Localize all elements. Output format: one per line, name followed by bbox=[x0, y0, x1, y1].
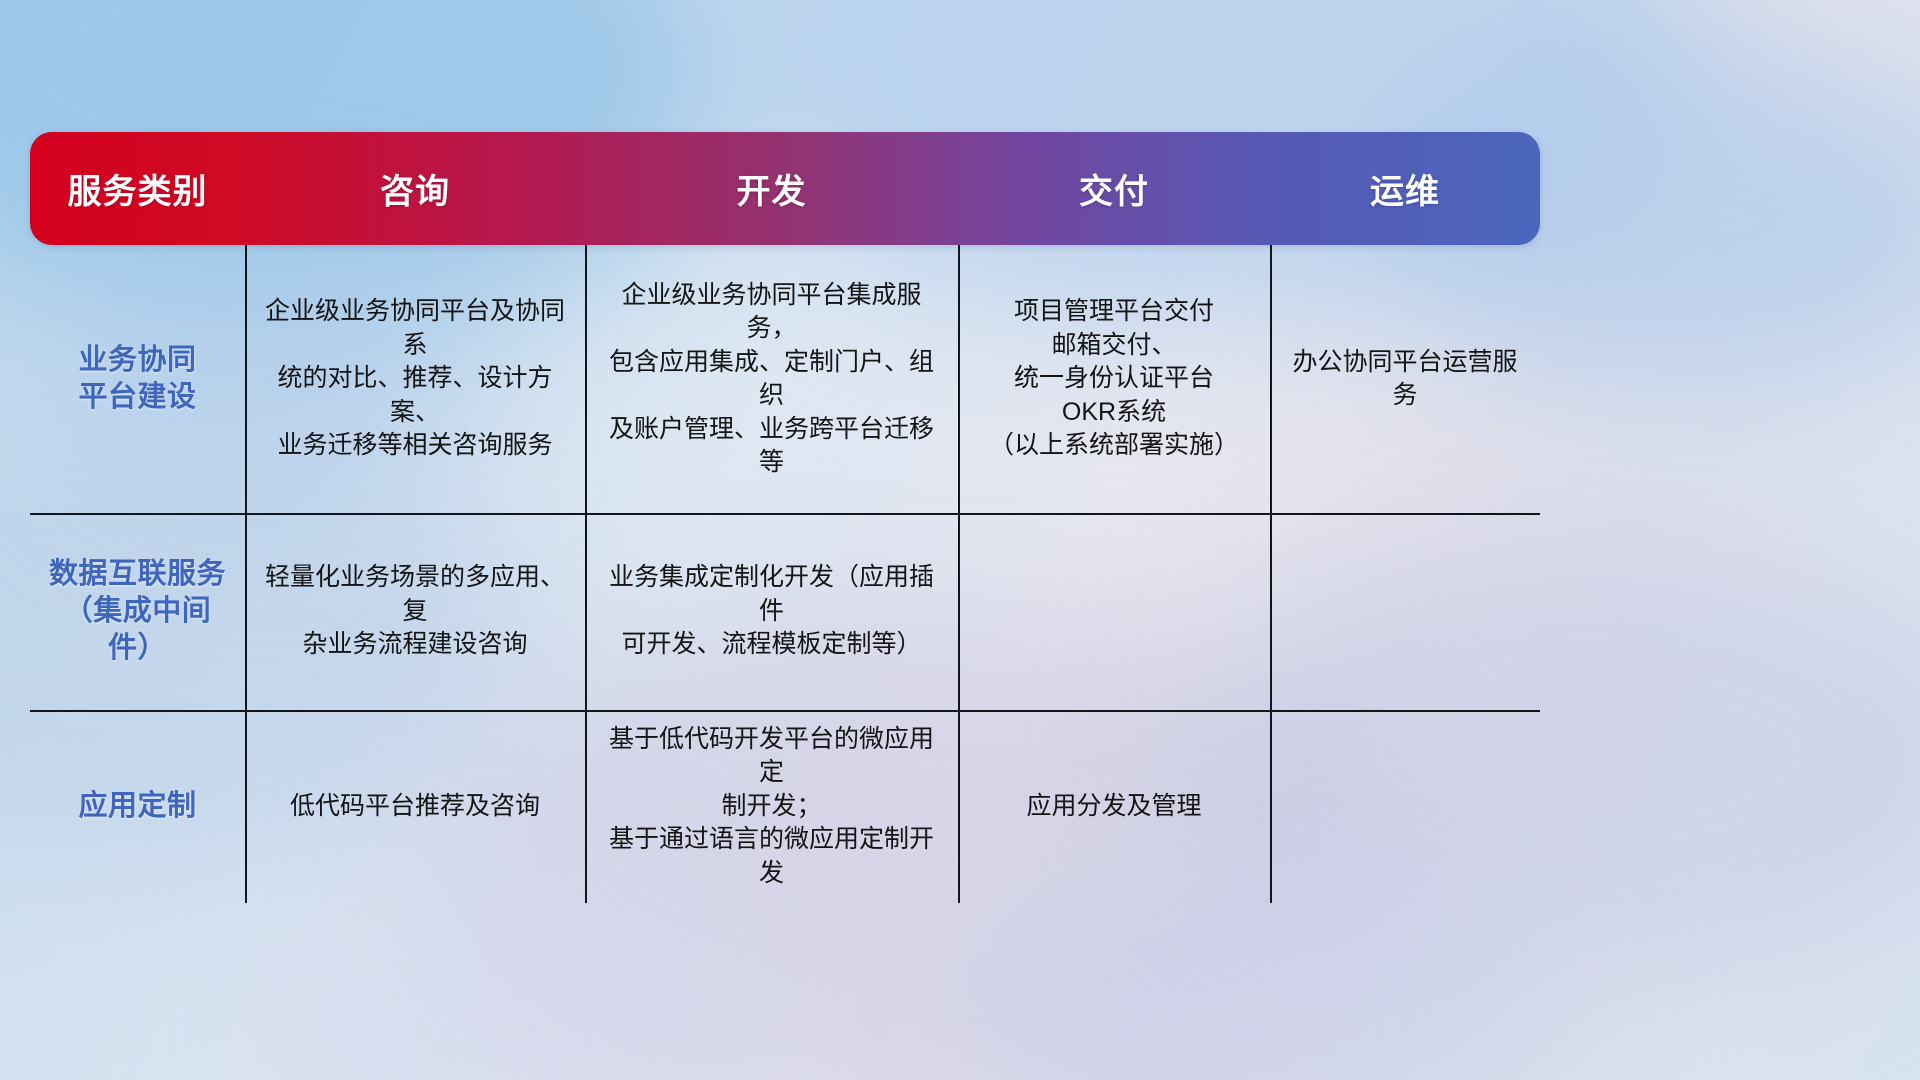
row-label-cell: 应用定制 bbox=[30, 710, 245, 903]
table-header-row: 服务类别 咨询 开发 交付 运维 bbox=[30, 132, 1540, 245]
table-body: 业务协同平台建设 企业级业务协同平台及协同系统的对比、推荐、设计方案、业务迁移等… bbox=[30, 245, 1540, 903]
column-header-category: 服务类别 bbox=[30, 132, 245, 245]
column-header-development: 开发 bbox=[585, 132, 958, 245]
cell-consulting: 轻量化业务场景的多应用、复杂业务流程建设咨询 bbox=[245, 513, 585, 710]
table-row: 应用定制 低代码平台推荐及咨询 基于低代码开发平台的微应用定制开发；基于通过语言… bbox=[30, 710, 1540, 903]
cell-text: 项目管理平台交付邮箱交付、统一身份认证平台OKR系统（以上系统部署实施） bbox=[989, 295, 1239, 463]
column-header-consulting: 咨询 bbox=[245, 132, 585, 245]
table-row: 数据互联服务（集成中间件） 轻量化业务场景的多应用、复杂业务流程建设咨询 业务集… bbox=[30, 513, 1540, 710]
row-label: 应用定制 bbox=[78, 788, 196, 825]
row-label-cell: 数据互联服务（集成中间件） bbox=[30, 513, 245, 710]
cell-text: 轻量化业务场景的多应用、复杂业务流程建设咨询 bbox=[259, 561, 571, 662]
row-label: 数据互联服务（集成中间件） bbox=[44, 556, 231, 667]
service-matrix-table: 服务类别 咨询 开发 交付 运维 业务协同平台建设 企业级业务协同平台及协同系统… bbox=[30, 132, 1540, 903]
cell-text: 低代码平台推荐及咨询 bbox=[290, 790, 540, 824]
row-label-cell: 业务协同平台建设 bbox=[30, 245, 245, 513]
cell-text: 业务集成定制化开发（应用插件可开发、流程模板定制等） bbox=[599, 561, 944, 662]
grid-vline bbox=[1270, 245, 1272, 903]
cell-text: 办公协同平台运营服务 bbox=[1284, 346, 1526, 413]
cell-development: 基于低代码开发平台的微应用定制开发；基于通过语言的微应用定制开发 bbox=[585, 710, 958, 903]
cell-consulting: 低代码平台推荐及咨询 bbox=[245, 710, 585, 903]
cell-operations bbox=[1270, 513, 1540, 710]
cell-text: 企业级业务协同平台及协同系统的对比、推荐、设计方案、业务迁移等相关咨询服务 bbox=[259, 295, 571, 463]
cell-development: 企业级业务协同平台集成服务，包含应用集成、定制门户、组织及账户管理、业务跨平台迁… bbox=[585, 245, 958, 513]
cell-operations bbox=[1270, 710, 1540, 903]
cell-consulting: 企业级业务协同平台及协同系统的对比、推荐、设计方案、业务迁移等相关咨询服务 bbox=[245, 245, 585, 513]
cell-delivery: 应用分发及管理 bbox=[958, 710, 1270, 903]
cell-text: 企业级业务协同平台集成服务，包含应用集成、定制门户、组织及账户管理、业务跨平台迁… bbox=[599, 279, 944, 480]
row-label: 业务协同平台建设 bbox=[78, 342, 196, 416]
cell-delivery: 项目管理平台交付邮箱交付、统一身份认证平台OKR系统（以上系统部署实施） bbox=[958, 245, 1270, 513]
column-header-delivery: 交付 bbox=[958, 132, 1270, 245]
grid-vline bbox=[245, 245, 247, 903]
cell-text: 基于低代码开发平台的微应用定制开发；基于通过语言的微应用定制开发 bbox=[599, 723, 944, 891]
column-header-operations: 运维 bbox=[1270, 132, 1540, 245]
grid-vline bbox=[585, 245, 587, 903]
grid-hline bbox=[30, 710, 1540, 712]
grid-vline bbox=[958, 245, 960, 903]
cell-operations: 办公协同平台运营服务 bbox=[1270, 245, 1540, 513]
table-row: 业务协同平台建设 企业级业务协同平台及协同系统的对比、推荐、设计方案、业务迁移等… bbox=[30, 245, 1540, 513]
cell-delivery bbox=[958, 513, 1270, 710]
cell-development: 业务集成定制化开发（应用插件可开发、流程模板定制等） bbox=[585, 513, 958, 710]
cell-text: 应用分发及管理 bbox=[1026, 790, 1201, 824]
grid-hline bbox=[30, 513, 1540, 515]
